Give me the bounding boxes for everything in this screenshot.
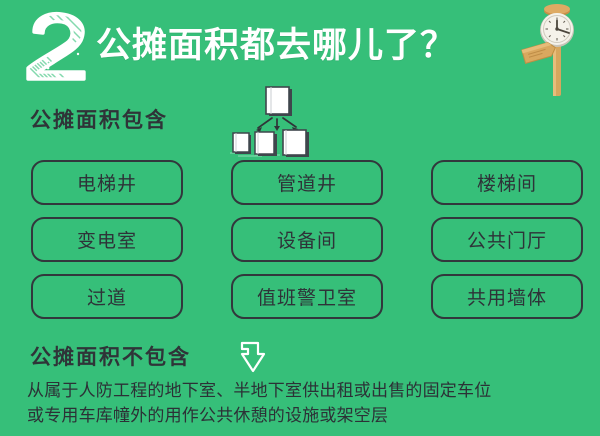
item-chip[interactable]: 公共门厅: [431, 217, 583, 262]
item-chip[interactable]: 管道井: [231, 160, 383, 205]
item-chip[interactable]: 变电室: [31, 217, 183, 262]
grid-row: 电梯井 管道井 楼梯间: [0, 160, 600, 217]
excluded-description-line: 从属于人防工程的地下室、半地下室供出租或出售的固定车位: [27, 378, 587, 403]
clock-signpost-icon: [520, 4, 594, 100]
item-chip[interactable]: 电梯井: [31, 160, 183, 205]
title-row: 公摊面积都去哪儿了？: [0, 4, 600, 86]
section-included-heading: 公摊面积包含: [30, 104, 168, 134]
item-chip[interactable]: 楼梯间: [431, 160, 583, 205]
section-excluded-heading: 公摊面积不包含: [30, 341, 191, 371]
item-chip[interactable]: 值班警卫室: [231, 274, 383, 319]
infographic-poster: 公摊面积都去哪儿了？: [0, 0, 600, 436]
included-items-grid: 电梯井 管道井 楼梯间 变电室 设备间 公共门厅 过道 值班警卫室 共用墙体: [0, 160, 600, 331]
excluded-description-line: 或专用车库幢外的用作公共休憩的设施或架空层: [27, 403, 587, 428]
arrow-down-icon: [238, 340, 268, 376]
grid-row: 过道 值班警卫室 共用墙体: [0, 274, 600, 331]
item-chip[interactable]: 共用墙体: [431, 274, 583, 319]
sketch-number-two-icon: [22, 10, 96, 82]
item-chip[interactable]: 设备间: [231, 217, 383, 262]
boxes-distribution-icon: [228, 86, 314, 158]
excluded-description: 从属于人防工程的地下室、半地下室供出租或出售的固定车位 或专用车库幢外的用作公共…: [27, 378, 587, 428]
page-title: 公摊面积都去哪儿了？: [96, 20, 456, 72]
grid-row: 变电室 设备间 公共门厅: [0, 217, 600, 274]
item-chip[interactable]: 过道: [31, 274, 183, 319]
